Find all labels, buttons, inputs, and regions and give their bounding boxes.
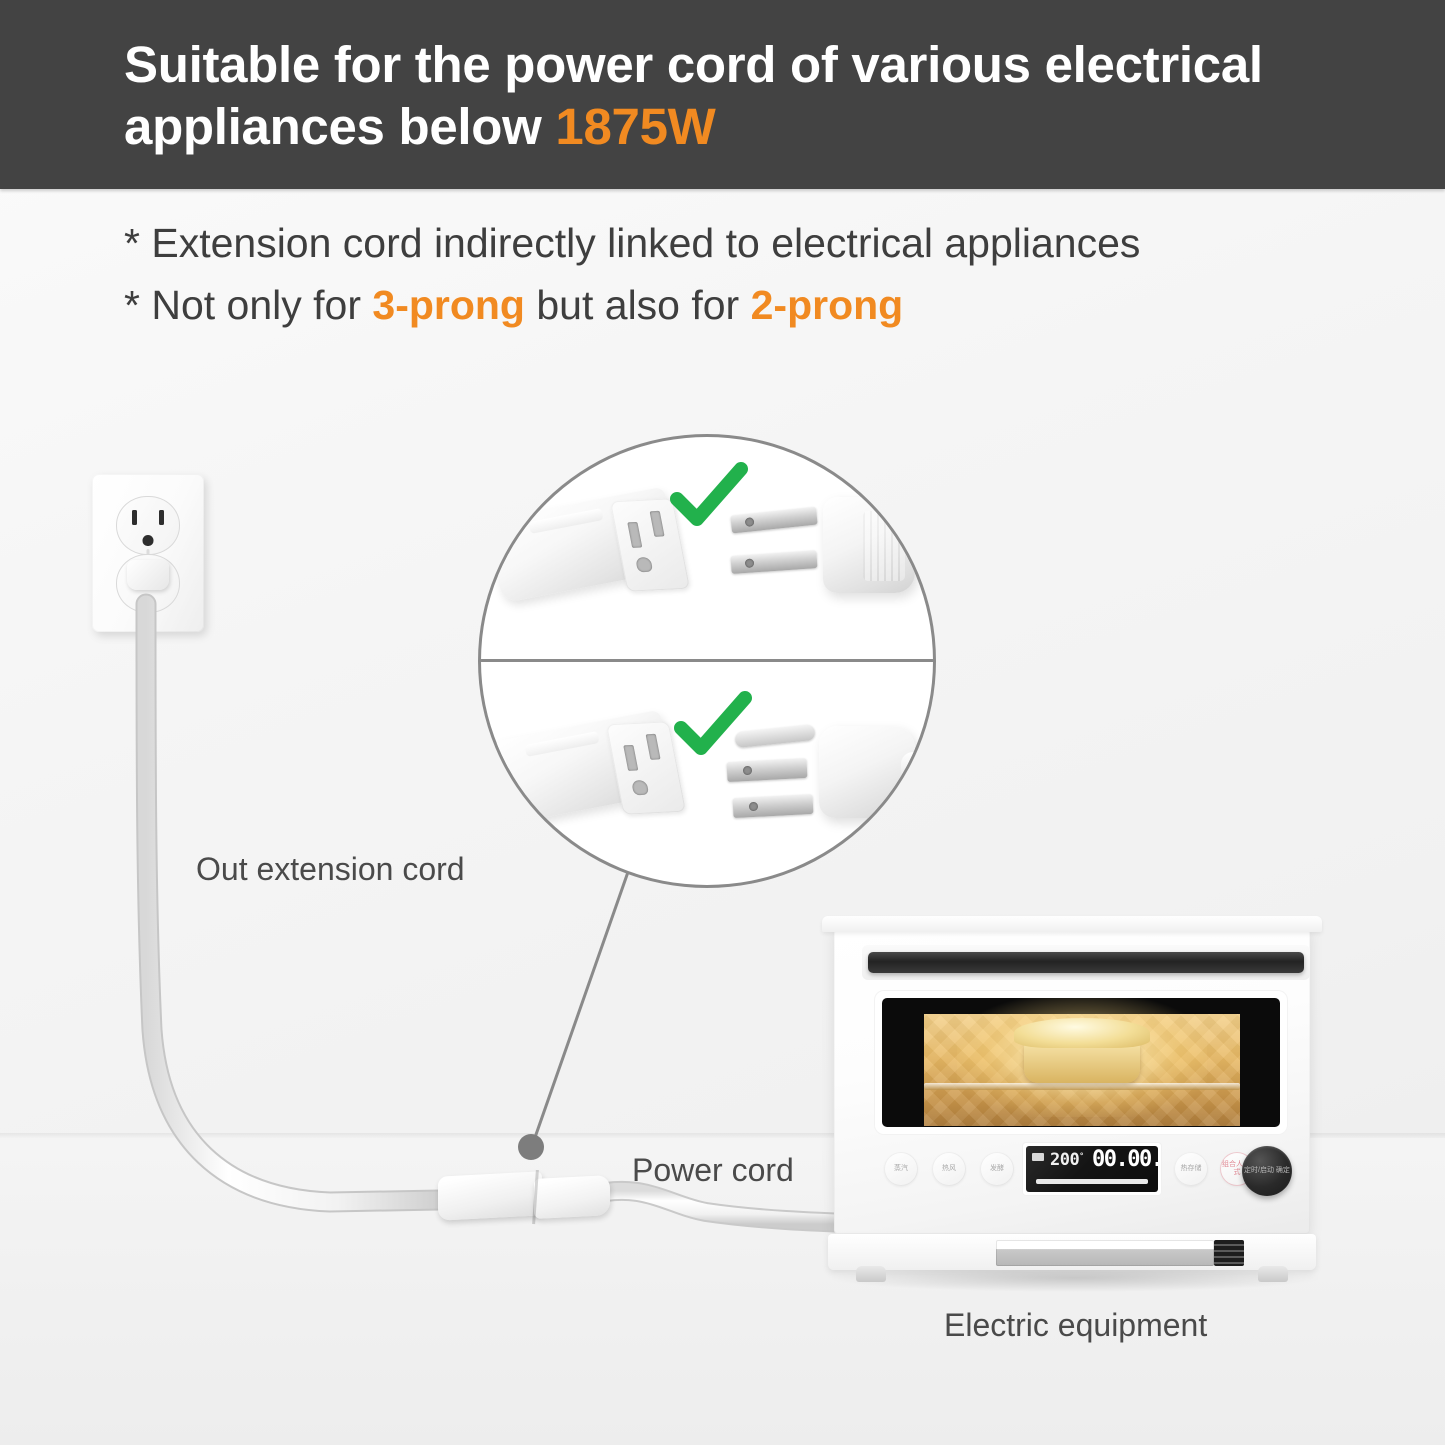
oven-display-temperature: 200°	[1050, 1150, 1084, 1170]
oven-foot-left	[856, 1266, 886, 1282]
cord-coupler	[438, 1168, 618, 1224]
prong-hole-icon	[745, 558, 755, 568]
oven-display-screen: 200° 00.00.	[1026, 1146, 1158, 1192]
prong-blade-bottom-icon	[733, 794, 814, 818]
plug-cable-exit	[901, 752, 935, 782]
prong-hole-icon	[749, 802, 758, 811]
outlet-slot-hot-icon	[159, 510, 164, 525]
oven-door-glass	[882, 998, 1280, 1127]
bullet-2-text-b: but also for	[525, 282, 751, 328]
steam-icon	[1032, 1153, 1044, 1161]
inserted-plug	[127, 560, 169, 590]
bullet-item-1: * Extension cord indirectly linked to el…	[124, 212, 1324, 274]
extension-cord-path	[146, 604, 440, 1202]
power-cord-plug-end	[534, 1175, 610, 1219]
oven-door-handle[interactable]	[868, 952, 1304, 973]
prong-hole-icon	[743, 766, 752, 775]
oven-water-tray[interactable]	[996, 1240, 1214, 1266]
temperature-value: 200	[1050, 1150, 1079, 1170]
electric-equipment-oven: 蒸汽 热风 发酵 加热 温度 200° 00.00. 热存储 组合人 模式 定时…	[822, 916, 1322, 1288]
oven-button-keep-warm[interactable]: 热存储	[1174, 1152, 1208, 1186]
oven-food-item	[1014, 1018, 1150, 1048]
socket-ground-slot-icon	[635, 557, 653, 573]
bullet-1-text: * Extension cord indirectly linked to el…	[124, 220, 1140, 266]
prong-blade-top-icon	[730, 507, 817, 534]
oven-control-panel: 蒸汽 热风 发酵 加热 温度 200° 00.00. 热存储 组合人 模式 定时…	[874, 1144, 1294, 1208]
bullet-list: * Extension cord indirectly linked to el…	[124, 212, 1324, 337]
three-prong-plug	[709, 698, 919, 838]
plug-cable-exit	[901, 527, 936, 553]
oven-top-lip	[822, 916, 1322, 932]
oven-display-timer: 00.00.	[1092, 1147, 1158, 1172]
compatibility-callout	[478, 434, 936, 888]
oven-display-progress-bar	[1036, 1179, 1148, 1184]
prong-blade-bottom-icon	[730, 550, 817, 574]
socket-slot-a-icon	[623, 745, 638, 771]
oven-button-hot-air[interactable]: 热风	[932, 1152, 966, 1186]
outlet-ground-icon	[143, 535, 154, 546]
socket-slot-b-icon	[650, 511, 665, 537]
socket-slot-b-icon	[646, 734, 661, 760]
extension-cord-socket-end	[438, 1171, 542, 1220]
prong-blade-top-icon	[727, 758, 808, 782]
extension-cord-socket-3p	[491, 708, 681, 826]
socket-slot-a-icon	[627, 522, 642, 548]
prong-hole-icon	[745, 517, 755, 527]
wall-outlet	[92, 474, 204, 632]
header-banner: Suitable for the power cord of various e…	[0, 0, 1445, 189]
temperature-unit: °	[1079, 1151, 1083, 1160]
oven-cavity	[924, 1014, 1240, 1126]
extension-cord-socket-2p	[495, 485, 685, 603]
oven-timer-start-knob[interactable]: 定时/启动 确定	[1242, 1146, 1292, 1196]
plug-grip-ribs	[863, 511, 905, 581]
oven-button-ferment[interactable]: 发酵	[980, 1152, 1014, 1186]
label-electric-equipment: Electric equipment	[944, 1307, 1207, 1344]
bullet-2-highlight-2prong: 2-prong	[751, 282, 904, 328]
leader-line	[532, 872, 628, 1146]
callout-panel-2-prong	[481, 437, 933, 659]
infographic-page: Suitable for the power cord of various e…	[0, 0, 1445, 1445]
bullet-item-2: * Not only for 3-prong but also for 2-pr…	[124, 274, 1324, 336]
outlet-slot-neutral-icon	[132, 510, 137, 525]
outlet-receptacle-top	[116, 496, 180, 555]
ground-prong-icon	[734, 724, 815, 748]
oven-rack	[924, 1083, 1240, 1090]
socket-ground-slot-icon	[631, 780, 649, 796]
oven-vent-icon	[1214, 1240, 1244, 1266]
oven-baking-dish	[1024, 1043, 1140, 1083]
extension-cord-path-outline	[146, 604, 440, 1202]
page-title-highlight: 1875W	[555, 98, 715, 155]
callout-panel-3-prong	[481, 662, 933, 884]
page-title: Suitable for the power cord of various e…	[124, 34, 1374, 158]
bullet-2-text-a: * Not only for	[124, 282, 372, 328]
label-out-extension-cord: Out extension cord	[196, 851, 465, 888]
label-power-cord: Power cord	[632, 1152, 794, 1189]
oven-display: 200° 00.00.	[1022, 1142, 1162, 1196]
oven-button-steam[interactable]: 蒸汽	[884, 1152, 918, 1186]
bullet-2-highlight-3prong: 3-prong	[372, 282, 525, 328]
two-prong-plug	[713, 475, 923, 615]
oven-foot-right	[1258, 1266, 1288, 1282]
